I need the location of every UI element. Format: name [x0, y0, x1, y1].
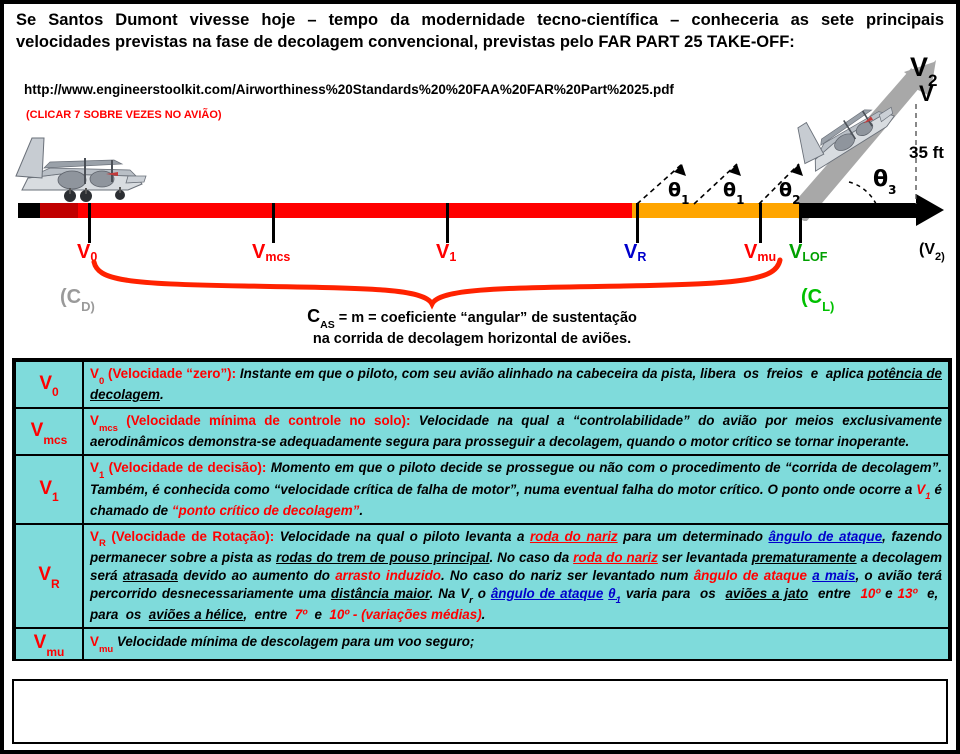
- row-desc-v0: V0 (Velocidade “zero”): Instante em que …: [83, 361, 949, 408]
- caption-rest: = m = coeficiente “angular” de sustentaç…: [335, 310, 637, 326]
- row-desc-v1-head-sub: 1: [99, 470, 104, 481]
- screen-height-label: 35 ft: [909, 143, 944, 163]
- row-desc-vmu-head: Vmu: [90, 634, 113, 649]
- row-desc-vmu-head-sub: mu: [99, 644, 113, 655]
- velocity-vector-label: V: [919, 83, 934, 105]
- row-key-vr: VR: [15, 524, 83, 628]
- speed-definitions-table: V0 V0 (Velocidade “zero”): Instante em q…: [12, 358, 952, 661]
- v2-ground-sub: 2): [935, 251, 945, 263]
- row-desc-v1-head: V1 (Velocidade de decisão):: [90, 460, 266, 475]
- angle-label-theta1-a: θ1: [668, 179, 689, 204]
- speed-label-v2-ground: (V2): [919, 241, 945, 261]
- table-row: V0 V0 (Velocidade “zero”): Instante em q…: [15, 361, 949, 408]
- diagram-caption: CAS = m = coeficiente “angular” de suste…: [262, 304, 682, 350]
- caption-c-sub: AS: [320, 319, 335, 331]
- row-key-vr-sub: R: [51, 577, 60, 591]
- table-row: VR VR (Velocidade de Rotação): Velocidad…: [15, 524, 949, 628]
- cl-text: (C: [801, 286, 822, 308]
- row-key-v1-sub: 1: [52, 490, 59, 504]
- table-row: V1 V1 (Velocidade de decisão): Momento e…: [15, 455, 949, 523]
- v2-ground-text: (V: [919, 241, 935, 258]
- row-key-vmu-sub: mu: [46, 645, 64, 659]
- row-desc-v0-head: V0 (Velocidade “zero”):: [90, 366, 236, 381]
- angle-label-theta1a-sub: 1: [681, 193, 689, 207]
- row-desc-vr-head-rest: (Velocidade de Rotação):: [106, 529, 274, 544]
- row-desc-vr-head: VR (Velocidade de Rotação):: [90, 529, 274, 544]
- row-desc-vr: VR (Velocidade de Rotação): Velocidade n…: [83, 524, 949, 628]
- coefficient-cd-label: (CD): [60, 286, 95, 311]
- row-desc-vmcs: Vmcs (Velocidade mínima de controle no s…: [83, 408, 949, 455]
- coefficient-cl-label: (CL): [801, 286, 834, 311]
- row-key-vmu: Vmu: [15, 628, 83, 660]
- caption-line-2: na corrida de decolagem horizontal de av…: [313, 331, 631, 347]
- cl-sub: L): [822, 299, 834, 314]
- takeoff-speed-diagram: V0 Vmcs V1 VR Vmu VLOF (V2) θ1 θ1 θ2: [4, 4, 956, 352]
- row-key-vmcs: Vmcs: [15, 408, 83, 455]
- angle-label-theta2: θ2: [779, 179, 800, 204]
- row-key-v0-sub: 0: [52, 385, 59, 399]
- angle-label-theta1-b: θ1: [723, 179, 744, 204]
- row-desc-vmcs-head-rest: (Velocidade mínima de controle no solo):: [118, 413, 411, 428]
- cd-sub: D): [81, 299, 95, 314]
- row-key-vmcs-sub: mcs: [43, 433, 67, 447]
- empty-bottom-panel: [12, 679, 948, 744]
- cd-text: (C: [60, 286, 81, 308]
- row-desc-v1: V1 (Velocidade de decisão): Momento em q…: [83, 455, 949, 523]
- row-desc-vmu-body: Velocidade mínima de descolagem para um …: [113, 634, 474, 649]
- slide-page: Se Santos Dumont vivesse hoje – tempo da…: [0, 0, 960, 754]
- row-desc-vmcs-head: Vmcs (Velocidade mínima de controle no s…: [90, 413, 410, 428]
- row-key-v1: V1: [15, 455, 83, 523]
- angle-label-theta3-sub: 3: [888, 183, 896, 197]
- row-desc-v1-head-rest: (Velocidade de decisão):: [104, 460, 266, 475]
- row-desc-vr-head-sub: R: [99, 538, 106, 549]
- caption-c: C: [307, 306, 320, 326]
- row-desc-v0-head-rest: (Velocidade “zero”):: [104, 366, 236, 381]
- row-desc-vmu: Vmu Velocidade mínima de descolagem para…: [83, 628, 949, 660]
- angle-rays: [4, 4, 956, 224]
- table-row: Vmcs Vmcs (Velocidade mínima de controle…: [15, 408, 949, 455]
- table-row: Vmu Vmu Velocidade mínima de descolagem …: [15, 628, 949, 660]
- angle-label-theta3: θ3: [873, 167, 896, 194]
- row-key-v0: V0: [15, 361, 83, 408]
- v2-climb-text: V: [910, 52, 928, 82]
- row-desc-vmcs-head-sub: mcs: [99, 423, 118, 434]
- row-desc-v0-head-sub: 0: [99, 376, 104, 387]
- angle-label-theta1b-sub: 1: [736, 193, 744, 207]
- angle-label-theta2-sub: 2: [792, 193, 800, 207]
